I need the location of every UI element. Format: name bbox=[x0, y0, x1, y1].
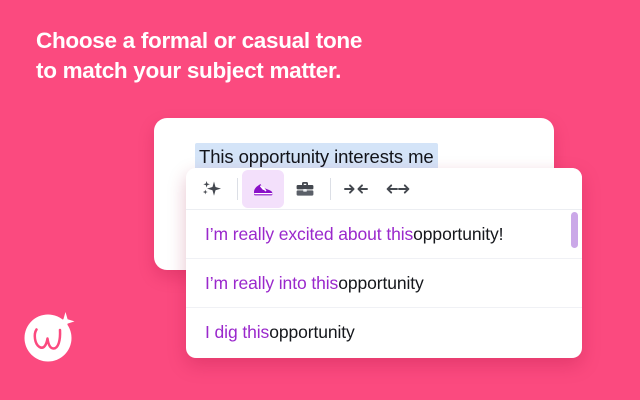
suggestion-unchanged-text: opportunity bbox=[338, 273, 424, 294]
toolbar-divider-2 bbox=[330, 178, 331, 200]
suggestions-popover: I’m really excited about this opportunit… bbox=[186, 168, 582, 358]
briefcase-icon[interactable] bbox=[284, 170, 326, 208]
suggestion-changed-text: I dig this bbox=[205, 322, 269, 343]
headline-line-1: Choose a formal or casual tone bbox=[36, 26, 556, 56]
list-item[interactable]: I’m really excited about this opportunit… bbox=[186, 210, 582, 259]
suggestion-list: I’m really excited about this opportunit… bbox=[186, 210, 582, 357]
wordtune-logo bbox=[19, 300, 85, 366]
arrows-outward-icon[interactable] bbox=[377, 170, 419, 208]
list-item[interactable]: I’m really into this opportunity bbox=[186, 259, 582, 308]
suggestions-scrollbar[interactable] bbox=[571, 212, 578, 354]
suggestion-changed-text: I’m really excited about this bbox=[205, 224, 413, 245]
toolbar-divider-1 bbox=[237, 178, 238, 200]
sparkles-icon[interactable] bbox=[191, 170, 233, 208]
page-headline: Choose a formal or casual tone to match … bbox=[36, 26, 556, 86]
arrows-inward-icon[interactable] bbox=[335, 170, 377, 208]
tone-toolbar bbox=[186, 168, 582, 210]
scrollbar-thumb[interactable] bbox=[571, 212, 578, 248]
suggestion-unchanged-text: opportunity! bbox=[413, 224, 503, 245]
suggestion-changed-text: I’m really into this bbox=[205, 273, 338, 294]
sneaker-icon[interactable] bbox=[242, 170, 284, 208]
list-item[interactable]: I dig this opportunity bbox=[186, 308, 582, 357]
headline-line-2: to match your subject matter. bbox=[36, 56, 556, 86]
suggestion-unchanged-text: opportunity bbox=[269, 322, 355, 343]
